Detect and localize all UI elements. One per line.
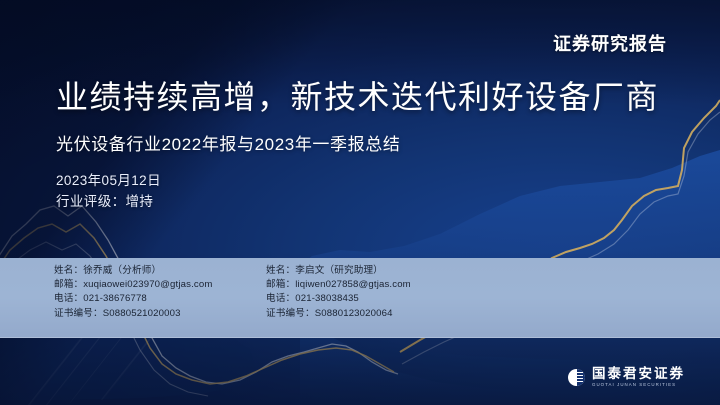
contact-email-row: 邮箱：liqiwen027858@gtjas.com <box>266 278 411 292</box>
contact-cert-row: 证书编号：S0880123020064 <box>266 307 411 321</box>
contact-cert-value: S0880521020003 <box>103 308 181 319</box>
report-cover: 证券研究报告 业绩持续高增，新技术迭代利好设备厂商 光伏设备行业2022年报与2… <box>0 0 720 405</box>
contact-email-label: 邮箱： <box>54 279 83 290</box>
contact-phone-value: 021-38038435 <box>295 293 359 304</box>
contact-email-value[interactable]: xuqiaowei023970@gtjas.com <box>83 279 212 290</box>
contact-cert-value: S0880123020064 <box>315 308 393 319</box>
contact-band: 姓名：徐乔威（分析师） 邮箱：xuqiaowei023970@gtjas.com… <box>0 258 720 338</box>
report-type-label: 证券研究报告 <box>553 30 667 56</box>
logo-name-en: GUOTAI JUNAN SECURITIES <box>592 383 685 387</box>
cover-meta: 2023年05月12日 行业评级：增持 <box>56 170 161 212</box>
analyst-contact-secondary: 姓名：李启文（研究助理） 邮箱：liqiwen027858@gtjas.com … <box>266 264 411 321</box>
publish-date: 2023年05月12日 <box>56 170 161 191</box>
contact-cert-label: 证书编号： <box>54 308 103 319</box>
contact-phone-row: 电话：021-38038435 <box>266 292 411 306</box>
contact-email-label: 邮箱： <box>266 279 295 290</box>
logo-name-cn: 国泰君安证券 <box>592 367 685 381</box>
contact-cert-label: 证书编号： <box>266 308 315 319</box>
guotai-junan-mark-icon <box>568 369 585 386</box>
page-subtitle: 光伏设备行业2022年报与2023年一季报总结 <box>56 130 400 155</box>
contact-email-row: 邮箱：xuqiaowei023970@gtjas.com <box>54 278 212 292</box>
contact-cert-row: 证书编号：S0880521020003 <box>54 307 212 321</box>
company-logo: 国泰君安证券 GUOTAI JUNAN SECURITIES <box>568 367 685 387</box>
industry-rating: 行业评级：增持 <box>56 191 161 212</box>
contact-name-value: 徐乔威（分析师） <box>83 265 161 276</box>
analyst-contact-primary: 姓名：徐乔威（分析师） 邮箱：xuqiaowei023970@gtjas.com… <box>54 264 212 321</box>
page-title: 业绩持续高增，新技术迭代利好设备厂商 <box>56 72 659 118</box>
contact-name-row: 姓名：徐乔威（分析师） <box>54 264 212 278</box>
contact-phone-label: 电话： <box>266 293 295 304</box>
contact-email-value[interactable]: liqiwen027858@gtjas.com <box>295 279 411 290</box>
logo-text: 国泰君安证券 GUOTAI JUNAN SECURITIES <box>592 367 685 387</box>
contact-name-label: 姓名： <box>54 265 83 276</box>
contact-phone-label: 电话： <box>54 293 83 304</box>
contact-name-value: 李启文（研究助理） <box>295 265 383 276</box>
contact-phone-row: 电话：021-38676778 <box>54 292 212 306</box>
contact-name-row: 姓名：李启文（研究助理） <box>266 264 411 278</box>
contact-phone-value: 021-38676778 <box>83 293 147 304</box>
contact-name-label: 姓名： <box>266 265 295 276</box>
